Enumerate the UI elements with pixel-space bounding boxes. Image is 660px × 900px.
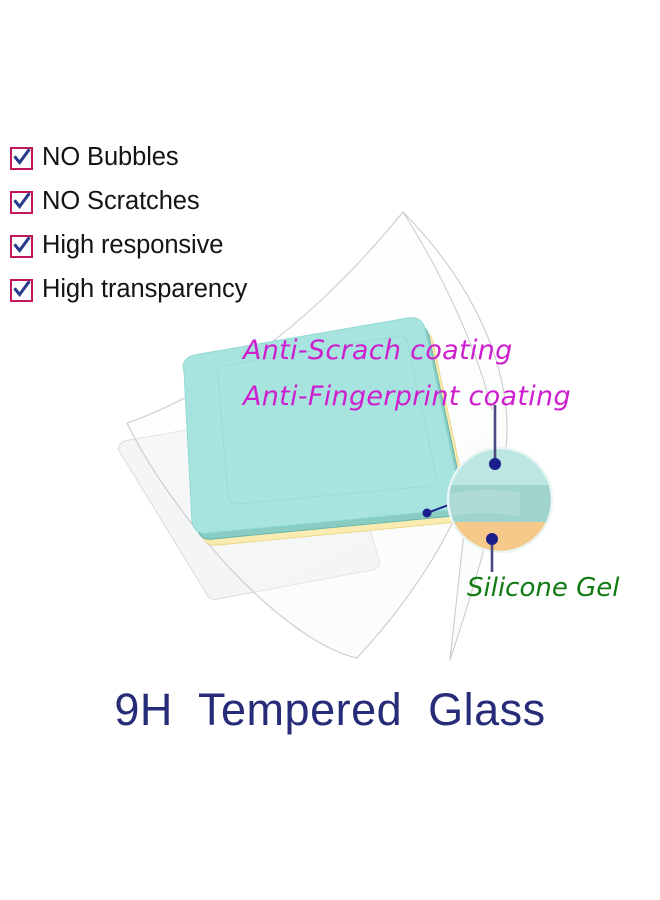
- feature-item-high-transparency: High transparency: [10, 268, 340, 312]
- checkbox-checked-icon: [10, 279, 33, 302]
- feature-item-high-responsive: High responsive: [10, 224, 340, 268]
- back-glass-sheet: [118, 406, 379, 600]
- feature-checklist: NO Bubbles NO Scratches High responsive: [10, 136, 340, 312]
- infographic-canvas: NO Bubbles NO Scratches High responsive: [0, 0, 660, 900]
- product-title: 9H Tempered Glass: [0, 687, 660, 732]
- checkbox-checked-icon: [10, 191, 33, 214]
- feature-label: NO Scratches: [42, 189, 200, 215]
- edge-leader-line: [423, 490, 490, 518]
- feature-label: High transparency: [42, 277, 247, 303]
- anti-scratch-coating-label: Anti-Scrach coating: [243, 337, 513, 364]
- checkbox-checked-icon: [10, 147, 33, 170]
- gel-leader-line: [486, 533, 498, 572]
- silicone-gel-label: Silicone Gel: [467, 575, 619, 601]
- tempered-glass-illustration: [0, 0, 660, 900]
- anti-fingerprint-coating-label: Anti-Fingerprint coating: [243, 383, 571, 410]
- feature-label: NO Bubbles: [42, 145, 179, 171]
- magnified-cross-section: [440, 440, 564, 564]
- coating-leader-line: [489, 405, 501, 470]
- feature-label: High responsive: [42, 233, 223, 259]
- feature-item-no-bubbles: NO Bubbles: [10, 136, 340, 180]
- checkbox-checked-icon: [10, 235, 33, 258]
- feature-item-no-scratches: NO Scratches: [10, 180, 340, 224]
